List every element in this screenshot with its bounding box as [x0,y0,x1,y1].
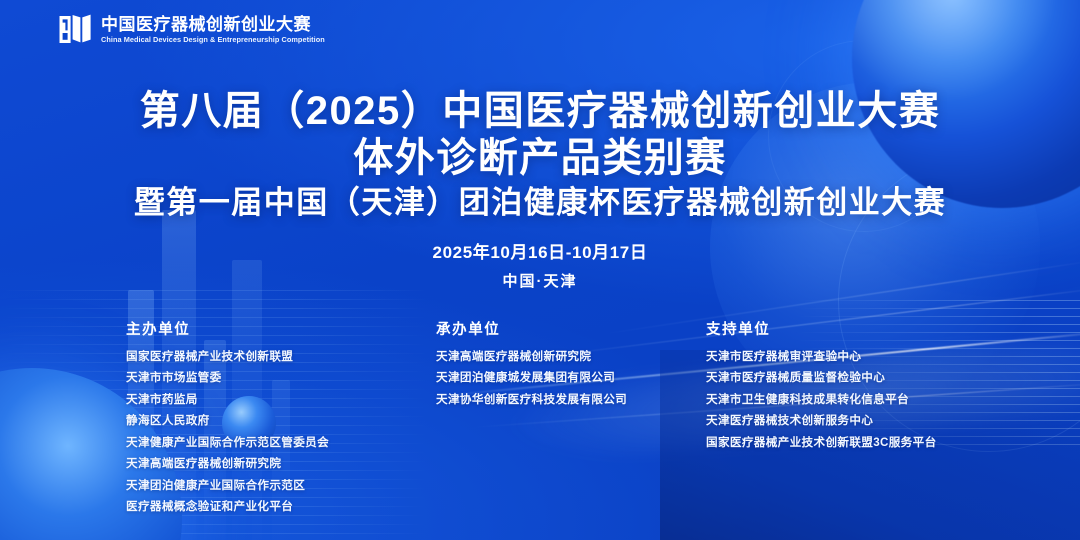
open-book-door-logo-icon [58,14,92,45]
list-item: 天津高端医疗器械创新研究院 [436,346,706,367]
event-location: 中国·天津 [0,270,1080,291]
organizers-column: 主办单位 国家医疗器械产业技术创新联盟 天津市市场监管委 天津市药监局 静海区人… [126,318,436,518]
list-item: 天津市市场监管委 [126,367,436,388]
conference-banner: 中国医疗器械创新创业大赛 China Medical Devices Desig… [0,0,1080,540]
organizers-heading: 主办单位 [126,318,436,339]
event-title-line2: 体外诊断产品类别赛 [0,135,1080,182]
list-item: 国家医疗器械产业技术创新联盟3C服务平台 [706,432,1006,453]
list-item: 天津医疗器械技术创新服务中心 [706,410,1006,431]
list-item: 国家医疗器械产业技术创新联盟 [126,346,436,367]
list-item: 医疗器械概念验证和产业化平台 [126,496,436,517]
event-date: 2025年10月16日-10月17日 [0,238,1080,263]
event-title-line1: 第八届（2025）中国医疗器械创新创业大赛 [0,88,1080,135]
list-item: 天津市卫生健康科技成果转化信息平台 [706,389,1006,410]
co-organizers-heading: 承办单位 [436,318,706,339]
list-item: 天津市医疗器械审评查验中心 [706,346,1006,367]
list-item: 天津团泊健康城发展集团有限公司 [436,367,706,388]
title-block: 第八届（2025）中国医疗器械创新创业大赛 体外诊断产品类别赛 暨第一届中国（天… [0,88,1080,222]
supporters-list: 天津市医疗器械审评查验中心 天津市医疗器械质量监督检验中心 天津市卫生健康科技成… [706,346,1006,453]
supporters-heading: 支持单位 [706,318,1006,339]
event-title-line3: 暨第一届中国（天津）团泊健康杯医疗器械创新创业大赛 [0,184,1080,221]
list-item: 天津高端医疗器械创新研究院 [126,453,436,474]
co-organizers-list: 天津高端医疗器械创新研究院 天津团泊健康城发展集团有限公司 天津协华创新医疗科技… [436,346,706,410]
list-item: 静海区人民政府 [126,410,436,431]
organization-columns: 主办单位 国家医疗器械产业技术创新联盟 天津市市场监管委 天津市药监局 静海区人… [126,318,984,518]
brand-logo: 中国医疗器械创新创业大赛 China Medical Devices Desig… [58,14,320,45]
organizers-list: 国家医疗器械产业技术创新联盟 天津市市场监管委 天津市药监局 静海区人民政府 天… [126,346,436,518]
list-item: 天津市药监局 [126,389,436,410]
list-item: 天津市医疗器械质量监督检验中心 [706,367,1006,388]
list-item: 天津协华创新医疗科技发展有限公司 [436,389,706,410]
brand-logo-text: 中国医疗器械创新创业大赛 China Medical Devices Desig… [101,16,320,43]
list-item: 天津团泊健康产业国际合作示范区 [126,475,436,496]
brand-name-cn: 中国医疗器械创新创业大赛 [101,16,320,33]
brand-name-en: China Medical Devices Design & Entrepren… [101,36,325,43]
event-meta: 2025年10月16日-10月17日 中国·天津 [0,238,1080,291]
supporters-column: 支持单位 天津市医疗器械审评查验中心 天津市医疗器械质量监督检验中心 天津市卫生… [706,318,1006,518]
list-item: 天津健康产业国际合作示范区管委员会 [126,432,436,453]
co-organizers-column: 承办单位 天津高端医疗器械创新研究院 天津团泊健康城发展集团有限公司 天津协华创… [436,318,706,518]
